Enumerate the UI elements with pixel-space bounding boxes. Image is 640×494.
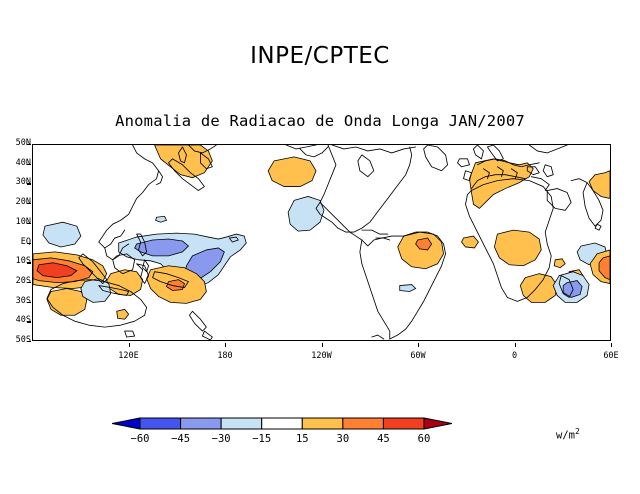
y-tick-mark bbox=[27, 341, 31, 342]
x-tick-label: 180 bbox=[203, 351, 247, 361]
x-tick-label: 60W bbox=[396, 351, 440, 361]
colorbar-tick-label: 60 bbox=[404, 433, 444, 445]
x-tick-mark bbox=[611, 343, 612, 347]
x-tick-mark bbox=[322, 343, 323, 347]
y-tick-mark bbox=[27, 164, 31, 165]
colorbar-swatch bbox=[140, 418, 181, 429]
y-tick-mark bbox=[27, 262, 31, 263]
colorbar-cap-high bbox=[424, 418, 452, 429]
y-tick-mark bbox=[27, 144, 31, 145]
colorbar-swatch bbox=[181, 418, 222, 429]
colorbar-swatch bbox=[302, 418, 343, 429]
colorbar-swatches bbox=[112, 414, 452, 434]
colorbar-units: w/m2 bbox=[556, 427, 580, 442]
colorbar-tick-label: 15 bbox=[282, 433, 322, 445]
map-plot-area bbox=[32, 144, 611, 341]
olr-anomaly-map bbox=[32, 144, 611, 341]
x-tick-label: 120W bbox=[300, 351, 344, 361]
y-tick-mark bbox=[27, 302, 31, 303]
y-tick-mark bbox=[27, 183, 31, 184]
colorbar-swatch bbox=[262, 418, 303, 429]
units-exponent: 2 bbox=[575, 427, 580, 436]
colorbar-tick-label: −30 bbox=[201, 433, 241, 445]
page-title: INPE/CPTEC bbox=[0, 43, 640, 69]
y-tick-mark bbox=[27, 223, 31, 224]
colorbar-swatch bbox=[221, 418, 262, 429]
y-tick-mark bbox=[27, 203, 31, 204]
x-axis: 120E180120W60W060E bbox=[32, 347, 611, 361]
y-axis: 50N40N30N20N10NEQ10S20S30S40S50S bbox=[0, 144, 31, 341]
colorbar: −60−45−30−1515304560 bbox=[112, 414, 452, 448]
y-tick-mark bbox=[27, 282, 31, 283]
colorbar-tick-label: 45 bbox=[363, 433, 403, 445]
colorbar-tick-label: −15 bbox=[242, 433, 282, 445]
y-tick-mark bbox=[27, 243, 31, 244]
contour-north-pacific-positive bbox=[268, 157, 316, 187]
x-tick-mark bbox=[129, 343, 130, 347]
colorbar-tick-label: −60 bbox=[120, 433, 160, 445]
colorbar-tick-label: −45 bbox=[161, 433, 201, 445]
contour-philippine-negative bbox=[43, 222, 81, 247]
colorbar-swatch bbox=[383, 418, 424, 429]
colorbar-cap-low bbox=[112, 418, 140, 429]
x-tick-mark bbox=[225, 343, 226, 347]
x-tick-label: 120E bbox=[107, 351, 151, 361]
chart-subtitle: Anomalia de Radiacao de Onda Longa JAN/2… bbox=[0, 112, 640, 130]
colorbar-swatch bbox=[343, 418, 384, 429]
x-tick-label: 60E bbox=[589, 351, 633, 361]
colorbar-tick-label: 30 bbox=[323, 433, 363, 445]
x-tick-label: 0 bbox=[493, 351, 537, 361]
colorbar-tick-labels: −60−45−30−1515304560 bbox=[112, 433, 452, 448]
y-tick-mark bbox=[27, 321, 31, 322]
x-tick-mark bbox=[418, 343, 419, 347]
x-tick-mark bbox=[515, 343, 516, 347]
